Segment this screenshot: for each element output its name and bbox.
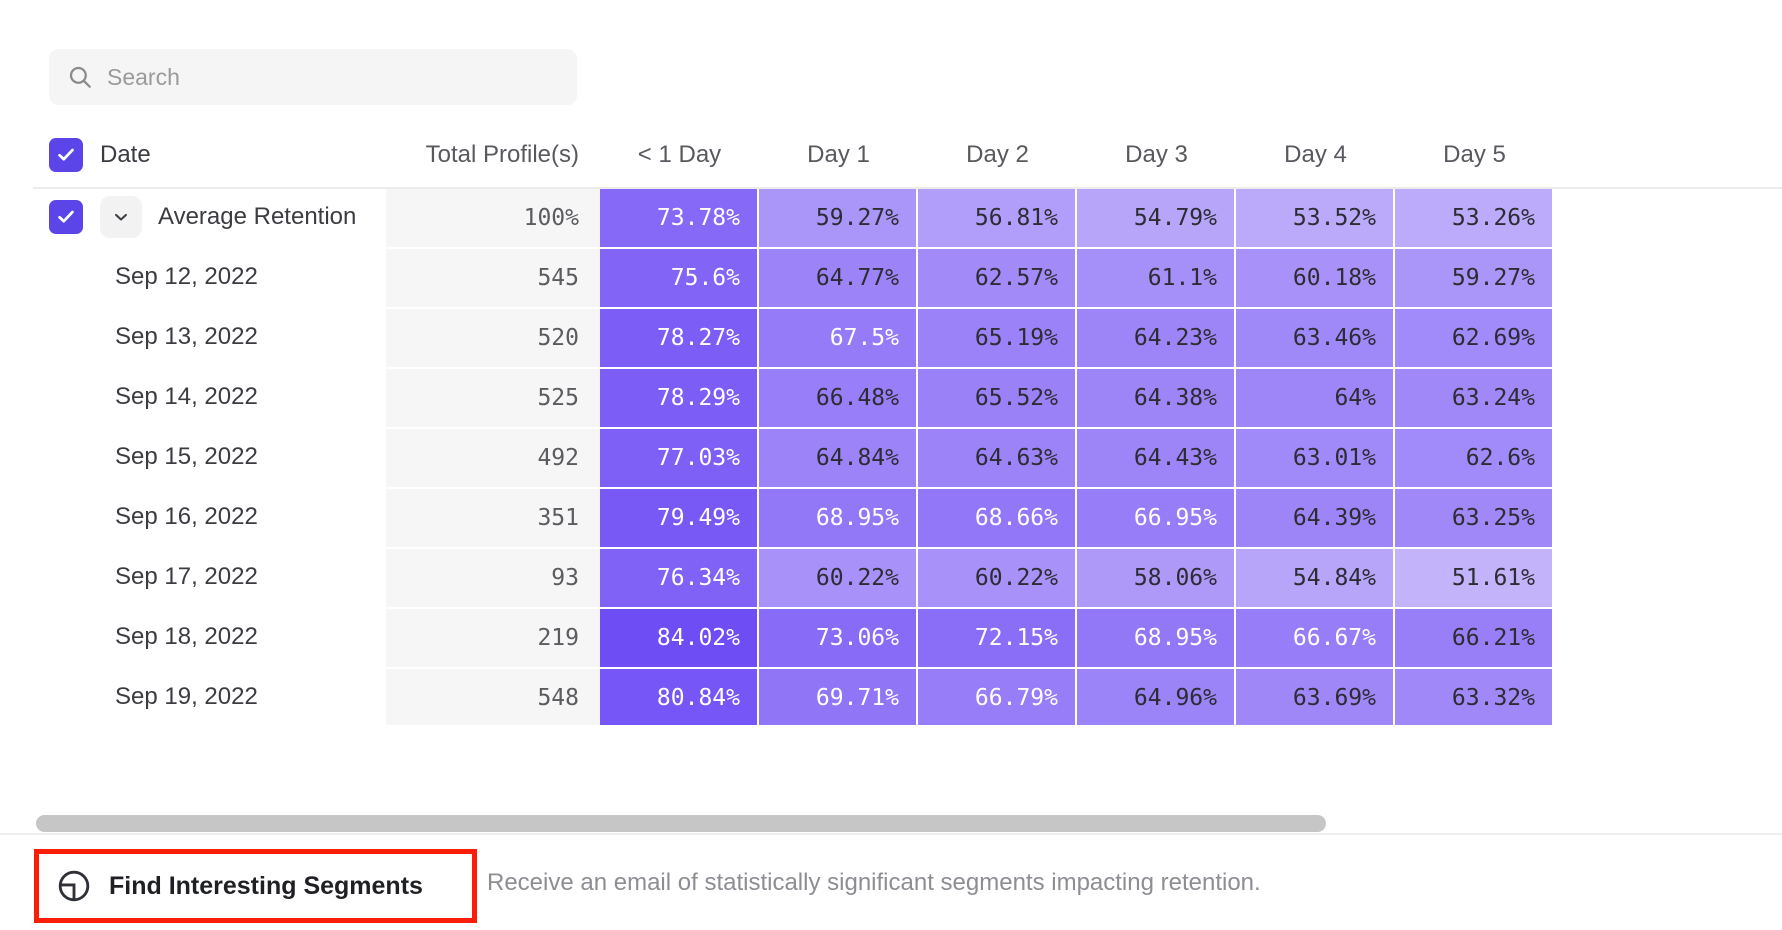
- cell-d5: 53.26%: [1395, 187, 1554, 247]
- cell-d1: 68.95%: [759, 487, 918, 547]
- cell-d4: 64%: [1236, 367, 1395, 427]
- cell-d2: 66.79%: [918, 667, 1077, 725]
- cell-d5: 63.24%: [1395, 367, 1554, 427]
- cell-d0: 76.34%: [600, 547, 759, 607]
- table-row[interactable]: Sep 13, 202252078.27%67.5%65.19%64.23%63…: [0, 307, 1782, 367]
- row-date-label: Sep 14, 2022: [115, 383, 258, 411]
- cell-d5: 66.21%: [1395, 607, 1554, 667]
- table-row[interactable]: Sep 18, 202221984.02%73.06%72.15%68.95%6…: [0, 607, 1782, 667]
- table-row[interactable]: Sep 14, 202252578.29%66.48%65.52%64.38%6…: [0, 367, 1782, 427]
- header-cell-d0: < 1 Day: [600, 141, 759, 169]
- cell-d2: 62.57%: [918, 247, 1077, 307]
- horizontal-scrollbar[interactable]: [0, 812, 1782, 834]
- cell-d0: 78.29%: [600, 367, 759, 427]
- cell-total-profiles: 93: [386, 547, 600, 607]
- cell-d3: 64.38%: [1077, 367, 1236, 427]
- cell-total-profiles: 100%: [386, 187, 600, 247]
- header-divider: [33, 187, 1782, 189]
- cell-d3: 61.1%: [1077, 247, 1236, 307]
- cell-d5: 62.6%: [1395, 427, 1554, 487]
- cell-d5: 59.27%: [1395, 247, 1554, 307]
- cell-d2: 72.15%: [918, 607, 1077, 667]
- cell-d1: 67.5%: [759, 307, 918, 367]
- cell-d3: 64.43%: [1077, 427, 1236, 487]
- cell-d4: 63.46%: [1236, 307, 1395, 367]
- cell-total-profiles: 492: [386, 427, 600, 487]
- cell-total-profiles: 520: [386, 307, 600, 367]
- cell-d5: 63.25%: [1395, 487, 1554, 547]
- cell-d3: 58.06%: [1077, 547, 1236, 607]
- table-row[interactable]: Sep 19, 202254880.84%69.71%66.79%64.96%6…: [0, 667, 1782, 725]
- row-date-label: Sep 15, 2022: [115, 443, 258, 471]
- cell-date: Sep 17, 2022: [0, 547, 386, 607]
- cell-d3: 54.79%: [1077, 187, 1236, 247]
- header-cell-total-profiles: Total Profile(s): [386, 141, 600, 169]
- header-cell-d3: Day 3: [1077, 141, 1236, 169]
- cell-date: Sep 13, 2022: [0, 307, 386, 367]
- cell-d2: 68.66%: [918, 487, 1077, 547]
- cell-d2: 65.52%: [918, 367, 1077, 427]
- table-summary-row[interactable]: Average Retention100%73.78%59.27%56.81%5…: [0, 187, 1782, 247]
- find-interesting-segments-button[interactable]: Find Interesting Segments: [56, 859, 423, 913]
- cell-d3: 64.23%: [1077, 307, 1236, 367]
- cell-d1: 59.27%: [759, 187, 918, 247]
- cell-d1: 69.71%: [759, 667, 918, 725]
- header-cell-d1: Day 1: [759, 141, 918, 169]
- cell-d5: 63.32%: [1395, 667, 1554, 725]
- select-all-checkbox[interactable]: [49, 138, 83, 172]
- cell-date: Sep 15, 2022: [0, 427, 386, 487]
- cell-d2: 64.63%: [918, 427, 1077, 487]
- segment-circle-icon: [56, 868, 92, 904]
- header-cell-d4: Day 4: [1236, 141, 1395, 169]
- cell-date: Sep 12, 2022: [0, 247, 386, 307]
- cell-date: Average Retention: [0, 187, 386, 247]
- cell-d5: 62.69%: [1395, 307, 1554, 367]
- header-cell-date: Date: [0, 138, 386, 172]
- row-date-label: Sep 12, 2022: [115, 263, 258, 291]
- retention-table-panel: DateTotal Profile(s)< 1 DayDay 1Day 2Day…: [0, 0, 1782, 930]
- cell-d0: 75.6%: [600, 247, 759, 307]
- cell-d4: 66.67%: [1236, 607, 1395, 667]
- cell-d4: 63.01%: [1236, 427, 1395, 487]
- table-row[interactable]: Sep 15, 202249277.03%64.84%64.63%64.43%6…: [0, 427, 1782, 487]
- cell-d4: 53.52%: [1236, 187, 1395, 247]
- table-header-row: DateTotal Profile(s)< 1 DayDay 1Day 2Day…: [0, 122, 1782, 187]
- header-label-date: Date: [100, 141, 151, 169]
- cell-date: Sep 14, 2022: [0, 367, 386, 427]
- cell-total-profiles: 525: [386, 367, 600, 427]
- row-date-label: Sep 16, 2022: [115, 503, 258, 531]
- footer-description: Receive an email of statistically signif…: [487, 835, 1261, 930]
- cell-total-profiles: 351: [386, 487, 600, 547]
- search-icon: [67, 64, 93, 90]
- chevron-down-icon[interactable]: [100, 196, 142, 238]
- cell-total-profiles: 545: [386, 247, 600, 307]
- cell-d4: 60.18%: [1236, 247, 1395, 307]
- row-date-label: Sep 17, 2022: [115, 563, 258, 591]
- cell-date: Sep 18, 2022: [0, 607, 386, 667]
- cell-d2: 56.81%: [918, 187, 1077, 247]
- footer-bar: Find Interesting Segments Receive an ema…: [0, 835, 1782, 930]
- cell-d4: 63.69%: [1236, 667, 1395, 725]
- cell-d0: 78.27%: [600, 307, 759, 367]
- table-scroll-viewport[interactable]: DateTotal Profile(s)< 1 DayDay 1Day 2Day…: [0, 122, 1782, 725]
- cell-d0: 84.02%: [600, 607, 759, 667]
- table-row[interactable]: Sep 17, 20229376.34%60.22%60.22%58.06%54…: [0, 547, 1782, 607]
- cell-d5: 51.61%: [1395, 547, 1554, 607]
- header-cell-d5: Day 5: [1395, 141, 1554, 169]
- table-row[interactable]: Sep 12, 202254575.6%64.77%62.57%61.1%60.…: [0, 247, 1782, 307]
- row-date-label: Sep 19, 2022: [115, 683, 258, 711]
- header-cell-d2: Day 2: [918, 141, 1077, 169]
- cell-d0: 79.49%: [600, 487, 759, 547]
- cell-d3: 66.95%: [1077, 487, 1236, 547]
- cell-d4: 54.84%: [1236, 547, 1395, 607]
- cell-d1: 64.84%: [759, 427, 918, 487]
- cell-date: Sep 16, 2022: [0, 487, 386, 547]
- cell-d1: 64.77%: [759, 247, 918, 307]
- cell-d4: 64.39%: [1236, 487, 1395, 547]
- row-date-label: Sep 13, 2022: [115, 323, 258, 351]
- row-checkbox[interactable]: [49, 200, 83, 234]
- cell-d0: 80.84%: [600, 667, 759, 725]
- cell-d0: 77.03%: [600, 427, 759, 487]
- cell-d1: 66.48%: [759, 367, 918, 427]
- cell-d2: 60.22%: [918, 547, 1077, 607]
- scrollbar-thumb[interactable]: [36, 815, 1326, 832]
- cell-d1: 60.22%: [759, 547, 918, 607]
- table-row[interactable]: Sep 16, 202235179.49%68.95%68.66%66.95%6…: [0, 487, 1782, 547]
- row-date-label: Sep 18, 2022: [115, 623, 258, 651]
- search-input[interactable]: [107, 49, 559, 105]
- cell-d1: 73.06%: [759, 607, 918, 667]
- cell-total-profiles: 219: [386, 607, 600, 667]
- cell-d3: 68.95%: [1077, 607, 1236, 667]
- cell-d0: 73.78%: [600, 187, 759, 247]
- cell-d2: 65.19%: [918, 307, 1077, 367]
- retention-table: DateTotal Profile(s)< 1 DayDay 1Day 2Day…: [0, 122, 1782, 725]
- find-interesting-segments-label: Find Interesting Segments: [109, 872, 423, 901]
- search-box[interactable]: [49, 49, 577, 105]
- cell-date: Sep 19, 2022: [0, 667, 386, 725]
- cell-d3: 64.96%: [1077, 667, 1236, 725]
- cell-total-profiles: 548: [386, 667, 600, 725]
- summary-row-label: Average Retention: [158, 203, 356, 231]
